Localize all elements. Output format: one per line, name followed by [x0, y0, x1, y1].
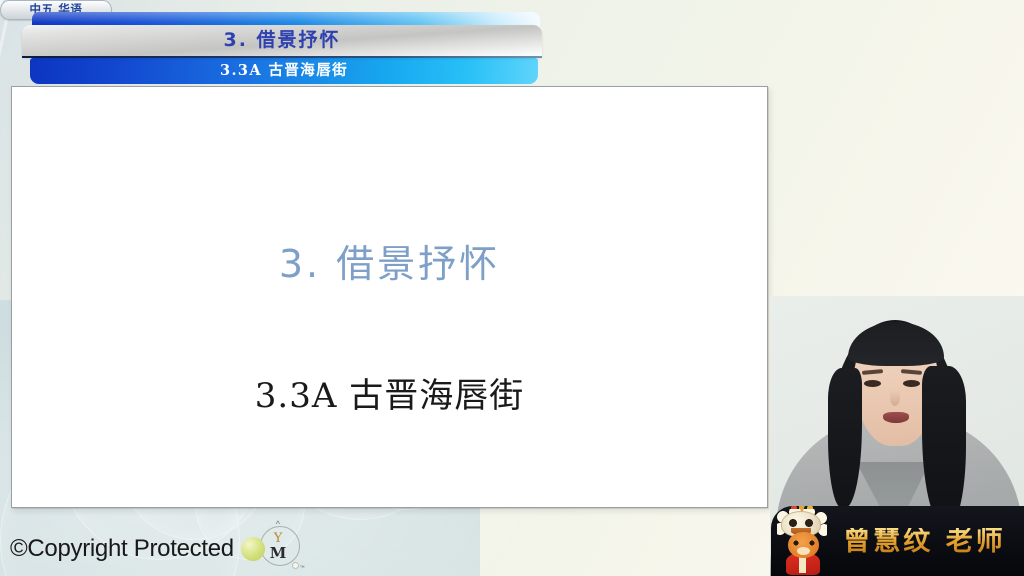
copyright-label: ©Copyright Protected — [10, 537, 234, 561]
header-bar-chapter: 3. 借景抒怀 — [22, 25, 542, 58]
logo-orb — [241, 537, 265, 561]
presenter-hair-strand-right — [922, 366, 966, 526]
ym-monogram-logo-icon: ^ Y M ™ — [240, 525, 306, 573]
logo-trademark: ™ — [300, 565, 305, 571]
mascot-tiger-eyes — [793, 540, 815, 546]
teacher-name: 曾慧纹 老师 — [833, 528, 1024, 555]
copyright-notice: ©Copyright Protected ^ Y M ™ — [10, 525, 306, 573]
chapter-title: 3. 借景抒怀 — [22, 25, 542, 58]
mascot-lion-eyes — [788, 519, 814, 528]
presenter-mouth — [883, 412, 909, 423]
teacher-nameplate: 曾慧纹 老师 — [771, 506, 1024, 576]
lion-dance-tiger-mascot-icon — [775, 508, 833, 574]
logo-monogram: Y M — [270, 532, 287, 561]
section-title: 3.3A 古晋海唇街 — [30, 58, 538, 84]
slide-heading: 3. 借景抒怀 — [12, 245, 767, 283]
slide-canvas: 3. 借景抒怀 3.3A 古晋海唇街 — [11, 86, 768, 508]
presenter-nose — [890, 390, 900, 406]
lesson-header-banner: 3. 借景抒怀 3.3A 古晋海唇街 中五 华语 — [0, 0, 560, 92]
mascot-tiger-snout — [797, 547, 810, 555]
header-bar-section: 3.3A 古晋海唇街 — [30, 58, 538, 84]
presenter-eye-right — [903, 380, 920, 387]
logo-letter-bottom: M — [270, 544, 287, 562]
presenter-eye-left — [864, 380, 881, 387]
slide-subheading: 3.3A 古晋海唇街 — [12, 379, 767, 413]
logo-satellite-dot — [292, 562, 299, 569]
